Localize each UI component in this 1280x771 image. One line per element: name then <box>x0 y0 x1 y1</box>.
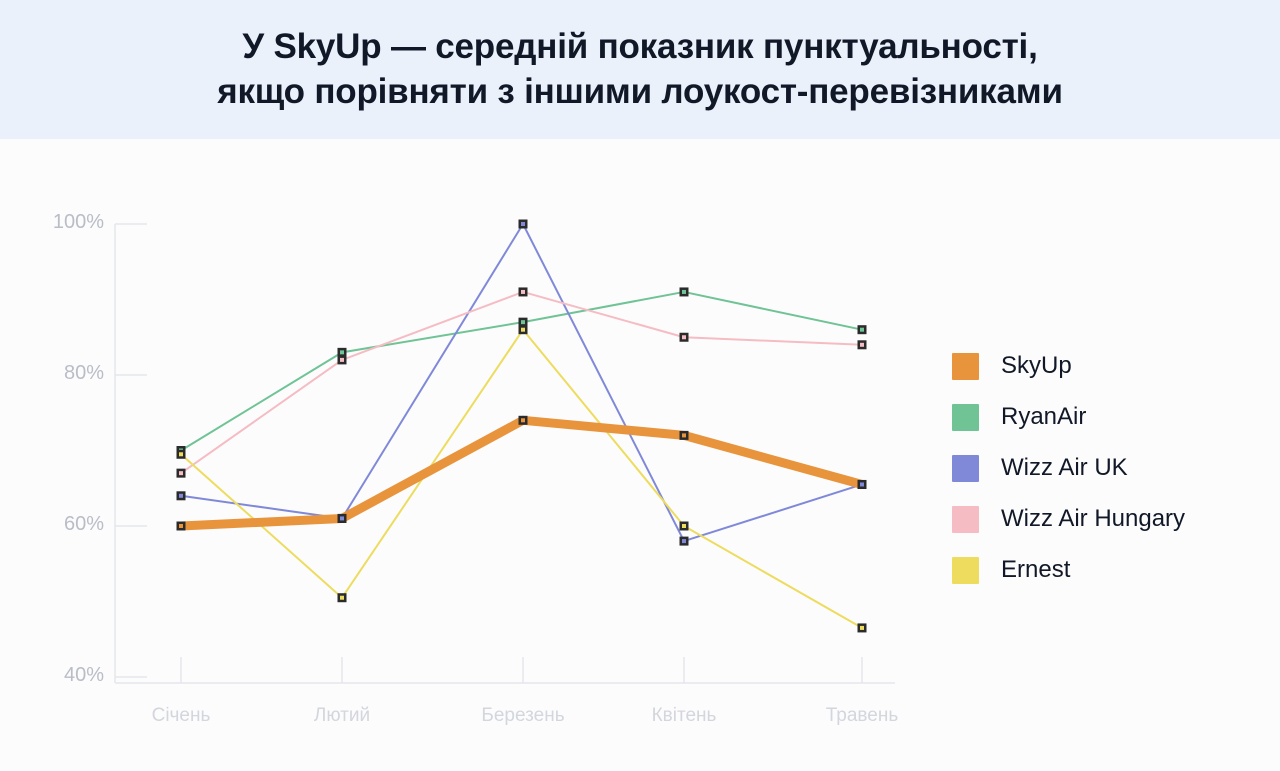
y-tick-label: 60% <box>34 513 104 536</box>
legend-label: Wizz Air Hungary <box>1001 505 1185 533</box>
title-line-2: якщо порівняти з іншими лоукост-перевізн… <box>217 72 1063 111</box>
legend-label: Ernest <box>1001 556 1070 584</box>
legend-color-swatch <box>952 404 979 431</box>
header-banner: У SkyUp — середній показник пунктуальнос… <box>0 0 1280 139</box>
legend-item-skyup[interactable]: SkyUp <box>952 352 1185 380</box>
x-tick-label: Квітень <box>604 705 764 727</box>
chart-container: 100%80%60%40% СіченьЛютийБерезеньКвітень… <box>0 139 1280 771</box>
y-tick-label: 100% <box>34 211 104 234</box>
legend-color-swatch <box>952 353 979 380</box>
legend-item-wizz-air-uk[interactable]: Wizz Air UK <box>952 454 1185 482</box>
axis-lines <box>115 224 895 683</box>
page-title: У SkyUp — середній показник пунктуальнос… <box>217 25 1063 113</box>
legend-color-swatch <box>952 557 979 584</box>
title-line-1: У SkyUp — середній показник пунктуальнос… <box>242 27 1037 66</box>
y-tick-label: 80% <box>34 362 104 385</box>
x-tick-label: Січень <box>101 705 261 727</box>
legend-label: Wizz Air UK <box>1001 454 1128 482</box>
legend-color-swatch <box>952 455 979 482</box>
legend-item-ryanair[interactable]: RyanAir <box>952 403 1185 431</box>
x-tick-label: Лютий <box>262 705 422 727</box>
legend-item-wizz-air-hungary[interactable]: Wizz Air Hungary <box>952 505 1185 533</box>
series-wizz-air-uk <box>181 224 862 541</box>
chart-legend: SkyUpRyanAirWizz Air UKWizz Air HungaryE… <box>952 352 1185 584</box>
legend-item-ernest[interactable]: Ernest <box>952 556 1185 584</box>
legend-color-swatch <box>952 506 979 533</box>
series-ryanair <box>181 292 862 451</box>
series-ernest <box>181 330 862 628</box>
x-tick-label: Березень <box>443 705 603 727</box>
x-tick-label: Травень <box>782 705 942 727</box>
legend-label: RyanAir <box>1001 403 1086 431</box>
legend-label: SkyUp <box>1001 352 1072 380</box>
y-tick-label: 40% <box>34 664 104 687</box>
